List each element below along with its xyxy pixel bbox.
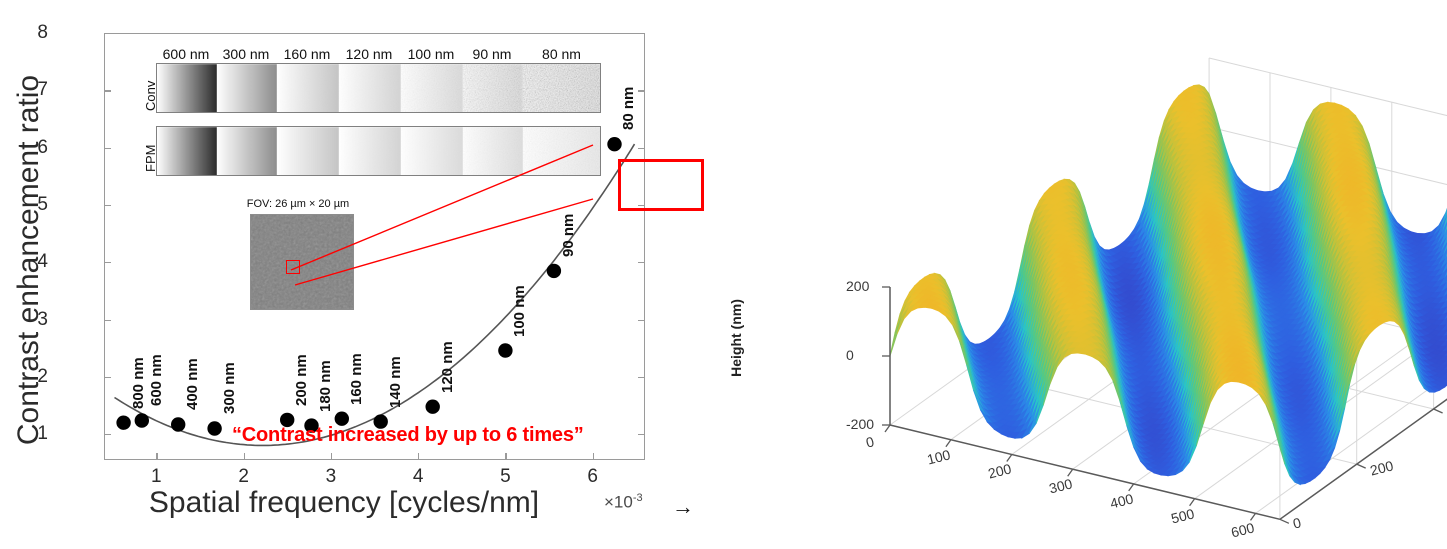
grating-segment — [217, 64, 277, 112]
y-tick-mark — [1357, 464, 1366, 468]
grating-segment — [463, 64, 523, 112]
data-point-label: 160 nm — [348, 353, 365, 405]
grating-segment — [157, 127, 217, 175]
x-tick-label: 2 — [224, 466, 264, 488]
grating-segment — [401, 127, 463, 175]
grating-segment — [523, 127, 601, 175]
surface-plot — [700, 0, 1447, 549]
grating-segment — [401, 64, 463, 112]
grating-segment — [463, 127, 523, 175]
y-tick-mark — [1280, 519, 1289, 523]
strip-column-label: 80 nm — [522, 46, 602, 62]
y-axis-title: Contrast enhancement ratio — [12, 45, 46, 475]
contrast-enhancement-chart: 12345678 123456 Contrast enhancement rat… — [0, 0, 700, 549]
x-axis-exponent: ×10-3 — [604, 492, 643, 513]
x-tick-label: 6 — [573, 466, 613, 488]
z-tick-label: 0 — [846, 347, 854, 363]
x-tick-label: 4 — [398, 466, 438, 488]
data-point-label: 90 nm — [560, 213, 577, 256]
flow-arrow-icon: → — [672, 494, 694, 520]
grating-strip-inset: 600 nm300 nm160 nm120 nm100 nm90 nm80 nm… — [129, 46, 601, 184]
data-point-label: 300 nm — [221, 363, 238, 415]
strip-column-label: 90 nm — [452, 46, 532, 62]
grating-segment — [217, 127, 277, 175]
data-point-marker — [547, 264, 561, 278]
x-axis-spine — [890, 425, 1280, 519]
y-tick-label: 8 — [8, 22, 48, 44]
height-surface-3d-chart: Height (nm) 0100200300400500600020040060… — [700, 0, 1447, 549]
x-tick-label: 5 — [485, 466, 525, 488]
data-point-marker — [607, 137, 621, 151]
data-point-marker — [498, 343, 512, 357]
z-tick-label: -200 — [846, 416, 874, 432]
grating-segment — [523, 64, 601, 112]
surface-mesh — [890, 85, 1447, 484]
strip-row-fpm — [156, 126, 601, 176]
data-point-label: 80 nm — [620, 87, 637, 130]
fov-inset: FOV: 26 µm × 20 µm — [234, 198, 362, 318]
fov-selection-box — [286, 260, 300, 274]
grating-segment — [339, 64, 401, 112]
x-exponent-prefix: ×10 — [604, 493, 633, 512]
data-point-marker — [135, 413, 149, 427]
data-point-label: 200 nm — [293, 354, 310, 406]
data-point-label: 100 nm — [511, 285, 528, 337]
grating-segment — [277, 64, 339, 112]
data-point-label: 600 nm — [148, 355, 165, 407]
strip-row-conv — [156, 63, 601, 113]
data-point-label: 800 nm — [130, 357, 147, 409]
data-point-marker — [116, 416, 130, 430]
x-tick-label: 3 — [311, 466, 351, 488]
x-tick-label: 1 — [136, 466, 176, 488]
z-axis-title: Height (nm) — [728, 278, 744, 398]
x-tick-mark — [885, 425, 890, 432]
grating-segment — [157, 64, 217, 112]
figure-root: 12345678 123456 Contrast enhancement rat… — [0, 0, 1447, 549]
x-exponent-value: -3 — [633, 492, 643, 504]
data-point-marker — [426, 400, 440, 414]
data-point-label: 180 nm — [317, 360, 334, 412]
fov-texture — [251, 215, 354, 310]
data-point-label: 140 nm — [387, 356, 404, 408]
fov-caption: FOV: 26 µm × 20 µm — [234, 198, 362, 210]
fov-image — [250, 214, 354, 310]
zoom-selection-box — [618, 159, 704, 211]
z-tick-label: 200 — [846, 278, 869, 294]
data-point-label: 120 nm — [439, 341, 456, 393]
y-tick-mark — [1434, 409, 1443, 413]
data-point-marker — [207, 421, 221, 435]
x-axis-title: Spatial frequency [cycles/nm] — [104, 486, 584, 520]
grating-segment — [277, 127, 339, 175]
data-point-marker — [171, 417, 185, 431]
data-point-label: 400 nm — [184, 359, 201, 411]
grating-segment — [339, 127, 401, 175]
contrast-annotation: “Contrast increased by up to 6 times” — [232, 424, 584, 447]
